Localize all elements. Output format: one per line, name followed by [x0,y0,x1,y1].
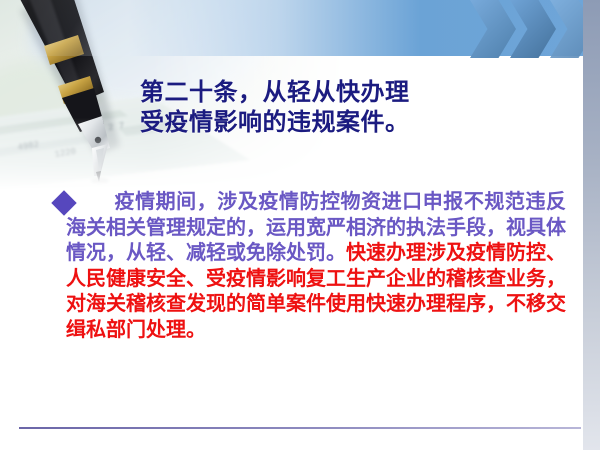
right-edge-strip [583,0,600,450]
chevron-decoration-group [470,0,600,58]
bottom-divider-rule [19,427,581,429]
slide-title: 第二十条，从轻从快办理 受疫情影响的违规案件。 [140,78,560,138]
chevron-icon [470,0,516,58]
slide-body-text: 疫情期间，涉及疫情防控物资进口申报不规范违反海关相关管理规定的，运用宽严相济的执… [66,190,566,343]
presentation-slide: 4982 1220 0 2 7 [0,0,600,450]
chevron-icon [510,0,556,58]
